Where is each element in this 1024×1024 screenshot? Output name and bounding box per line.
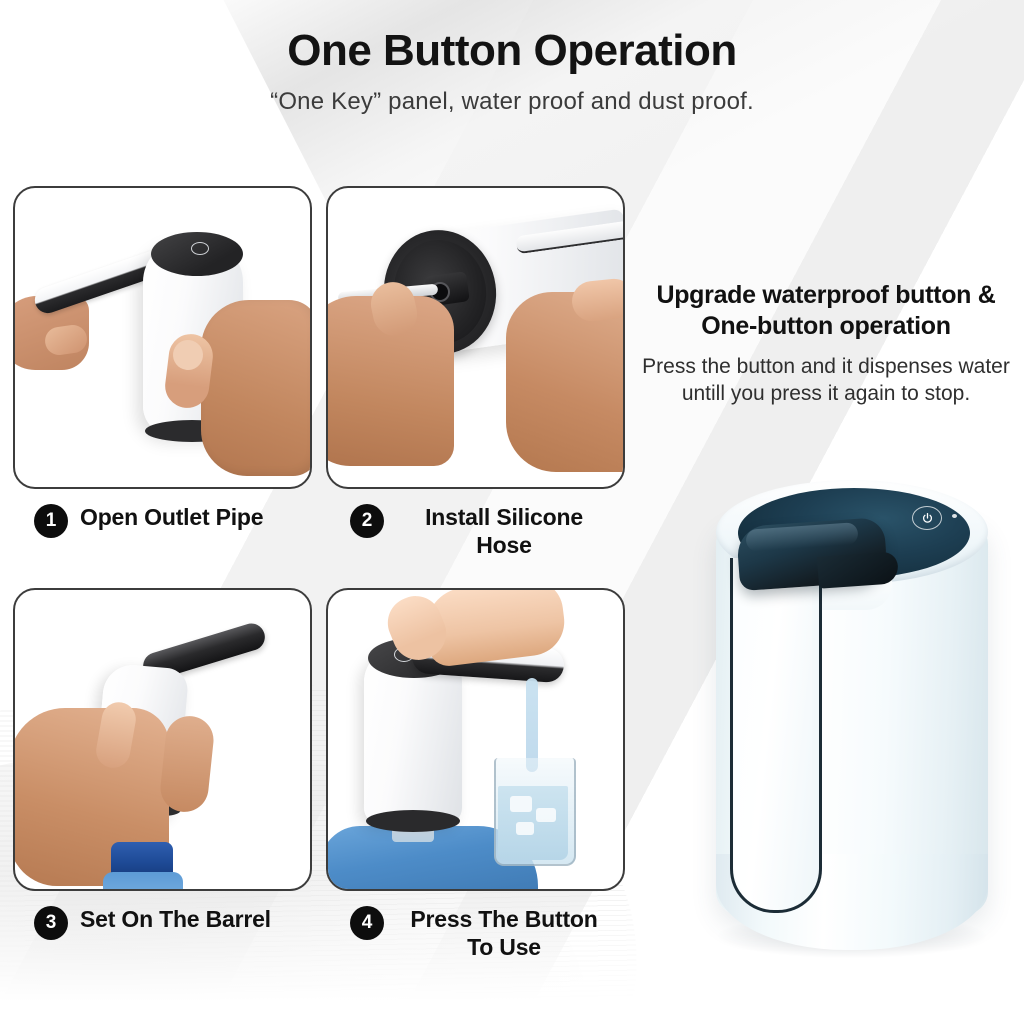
step-caption-4: 4 Press The Button To Use [350, 905, 618, 961]
ice-cube [510, 796, 532, 812]
step-2-illustration [328, 188, 623, 487]
step-4-illustration [328, 590, 623, 889]
power-button [191, 242, 209, 255]
hero-product-image [690, 462, 1000, 962]
step-label: Install Silicone Hose [396, 503, 612, 559]
step-panel-3 [13, 588, 312, 891]
feature-description: Press the button and it dispenses water … [636, 353, 1016, 408]
product-handle-face [734, 558, 812, 906]
step-number-badge: 4 [350, 906, 384, 940]
product-spout-lip [817, 551, 899, 589]
status-led [952, 514, 957, 518]
power-icon [912, 506, 942, 530]
step-label: Open Outlet Pipe [80, 503, 263, 531]
feature-heading: Upgrade waterproof button & One-button o… [636, 280, 1016, 341]
page-title: One Button Operation [0, 28, 1024, 74]
step-1-illustration [15, 188, 310, 487]
step-panel-2 [326, 186, 625, 489]
header: One Button Operation “One Key” panel, wa… [0, 28, 1024, 116]
step-label: Press The Button To Use [396, 905, 612, 961]
water-barrel [103, 872, 183, 891]
step-panel-4 [326, 588, 625, 891]
step-number-badge: 3 [34, 906, 68, 940]
dispenser-base [366, 810, 460, 832]
ice-cube [516, 822, 534, 835]
right-hand [201, 300, 312, 476]
ice-cube [536, 808, 556, 822]
step-caption-3: 3 Set On The Barrel [34, 905, 310, 940]
page-subtitle: “One Key” panel, water proof and dust pr… [0, 88, 1024, 116]
step-number-badge: 2 [350, 504, 384, 538]
infographic-canvas: One Button Operation “One Key” panel, wa… [0, 0, 1024, 1024]
step-caption-2: 2 Install Silicone Hose [350, 503, 618, 559]
step-number-badge: 1 [34, 504, 68, 538]
barrel-cap [111, 842, 173, 876]
step-panel-1 [13, 186, 312, 489]
step-caption-1: 1 Open Outlet Pipe [34, 503, 310, 538]
step-label: Set On The Barrel [80, 905, 271, 933]
feature-callout: Upgrade waterproof button & One-button o… [636, 280, 1016, 408]
step-3-illustration [15, 590, 310, 889]
